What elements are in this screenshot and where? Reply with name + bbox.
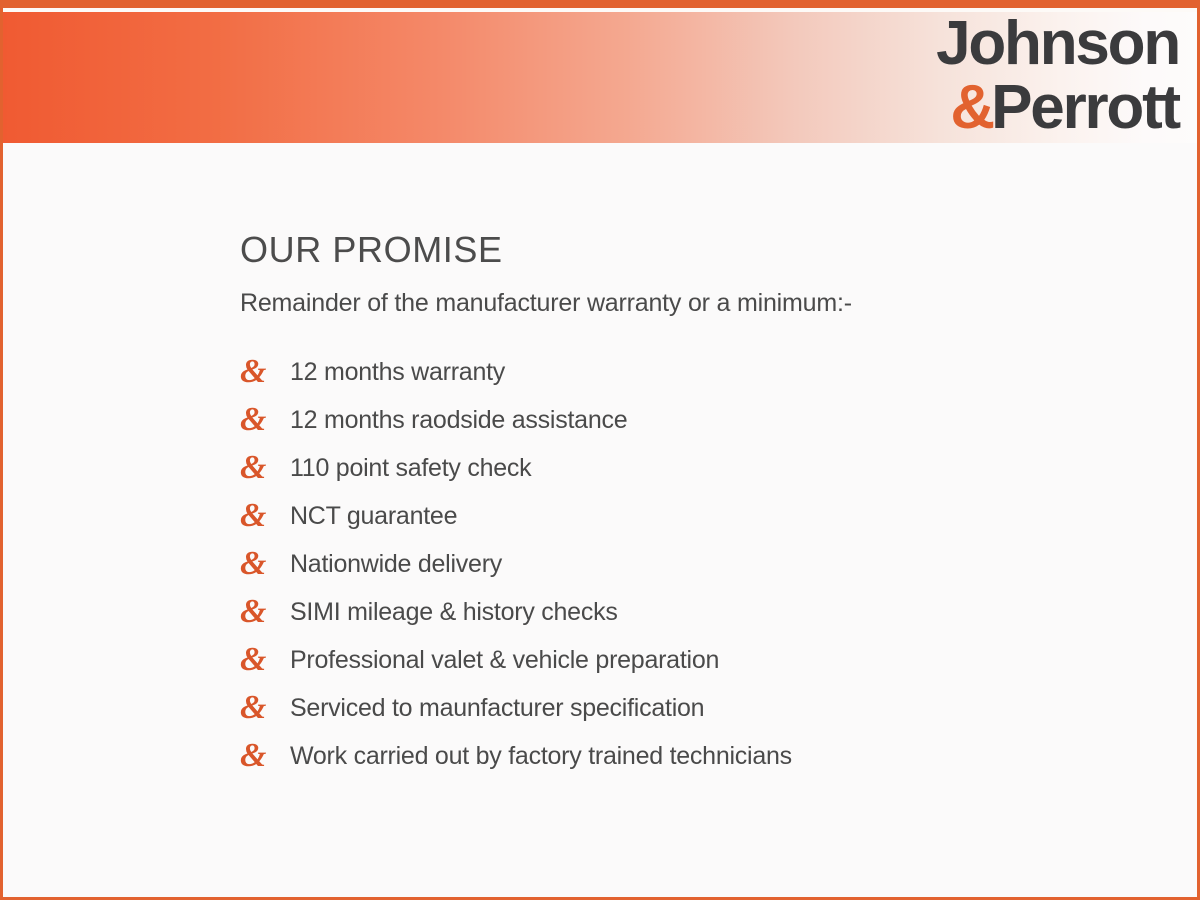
list-item: &Work carried out by factory trained tec… [240,732,1140,780]
ampersand-bullet-icon: & [240,352,290,392]
list-item: &12 months warranty [240,348,1140,396]
list-item: &110 point safety check [240,444,1140,492]
list-item-label: Professional valet & vehicle preparation [290,643,719,677]
ampersand-bullet-icon: & [240,400,290,440]
list-item-label: 12 months raodside assistance [290,403,627,437]
list-item: &NCT guarantee [240,492,1140,540]
ampersand-bullet-icon: & [240,496,290,536]
list-item-label: 12 months warranty [290,355,505,389]
ampersand-bullet-icon: & [240,592,290,632]
list-item-label: 110 point safety check [290,451,531,485]
list-item-label: NCT guarantee [290,499,457,533]
list-item: &12 months raodside assistance [240,396,1140,444]
promise-list: &12 months warranty&12 months raodside a… [240,348,1140,780]
logo-perrott-text: Perrott [991,73,1179,142]
logo-line-perrott: &Perrott [889,77,1179,139]
list-item: &SIMI mileage & history checks [240,588,1140,636]
list-item: &Professional valet & vehicle preparatio… [240,636,1140,684]
list-item-label: Serviced to maunfacturer specification [290,691,704,725]
ampersand-bullet-icon: & [240,736,290,776]
logo-line-johnson: Johnson [889,13,1179,75]
list-item-label: Work carried out by factory trained tech… [290,739,792,773]
page-title: OUR PROMISE [240,228,1140,272]
johnson-perrott-logo: Johnson &Perrott [889,13,1179,138]
list-item-label: Nationwide delivery [290,547,502,581]
list-item: &Nationwide delivery [240,540,1140,588]
list-item: &Serviced to maunfacturer specification [240,684,1140,732]
promise-subtitle: Remainder of the manufacturer warranty o… [240,286,1140,320]
ampersand-bullet-icon: & [240,544,290,584]
ampersand-bullet-icon: & [240,640,290,680]
list-item-label: SIMI mileage & history checks [290,595,618,629]
ampersand-bullet-icon: & [240,688,290,728]
promise-slide: Johnson &Perrott OUR PROMISE Remainder o… [0,0,1200,900]
ampersand-bullet-icon: & [240,448,290,488]
logo-ampersand-icon: & [950,73,991,142]
promise-content: OUR PROMISE Remainder of the manufacture… [240,228,1140,780]
